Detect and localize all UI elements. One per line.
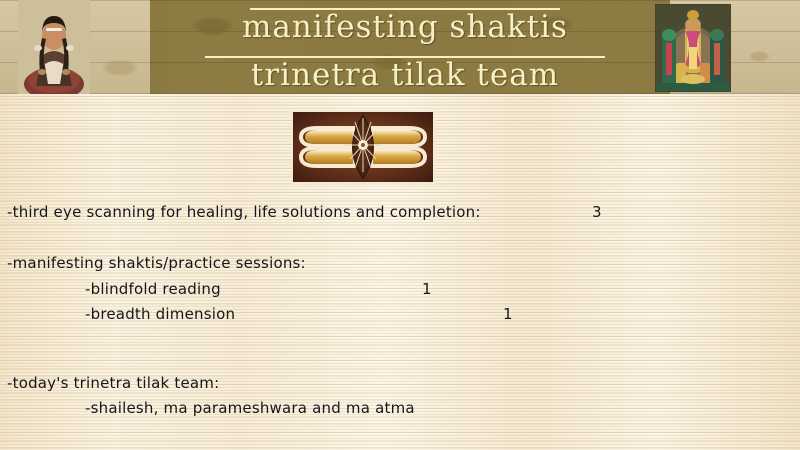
content-line-value: 1 bbox=[422, 280, 432, 298]
presentation-slide: manifesting shaktis trinetra tilak team bbox=[0, 0, 800, 450]
content-line-label: -breadth dimension bbox=[85, 305, 235, 323]
content-line-label: -third eye scanning for healing, life so… bbox=[7, 203, 481, 221]
content-line-value: 3 bbox=[592, 203, 602, 221]
content-line-label: -blindfold reading bbox=[85, 280, 221, 298]
content-line-label: -shailesh, ma parameshwara and ma atma bbox=[85, 399, 415, 417]
content-line-label: -manifesting shaktis/practice sessions: bbox=[7, 254, 306, 272]
content-line-value: 1 bbox=[503, 305, 513, 323]
content-line-label: -today's trinetra tilak team: bbox=[7, 374, 219, 392]
slide-content: -third eye scanning for healing, life so… bbox=[0, 0, 800, 450]
